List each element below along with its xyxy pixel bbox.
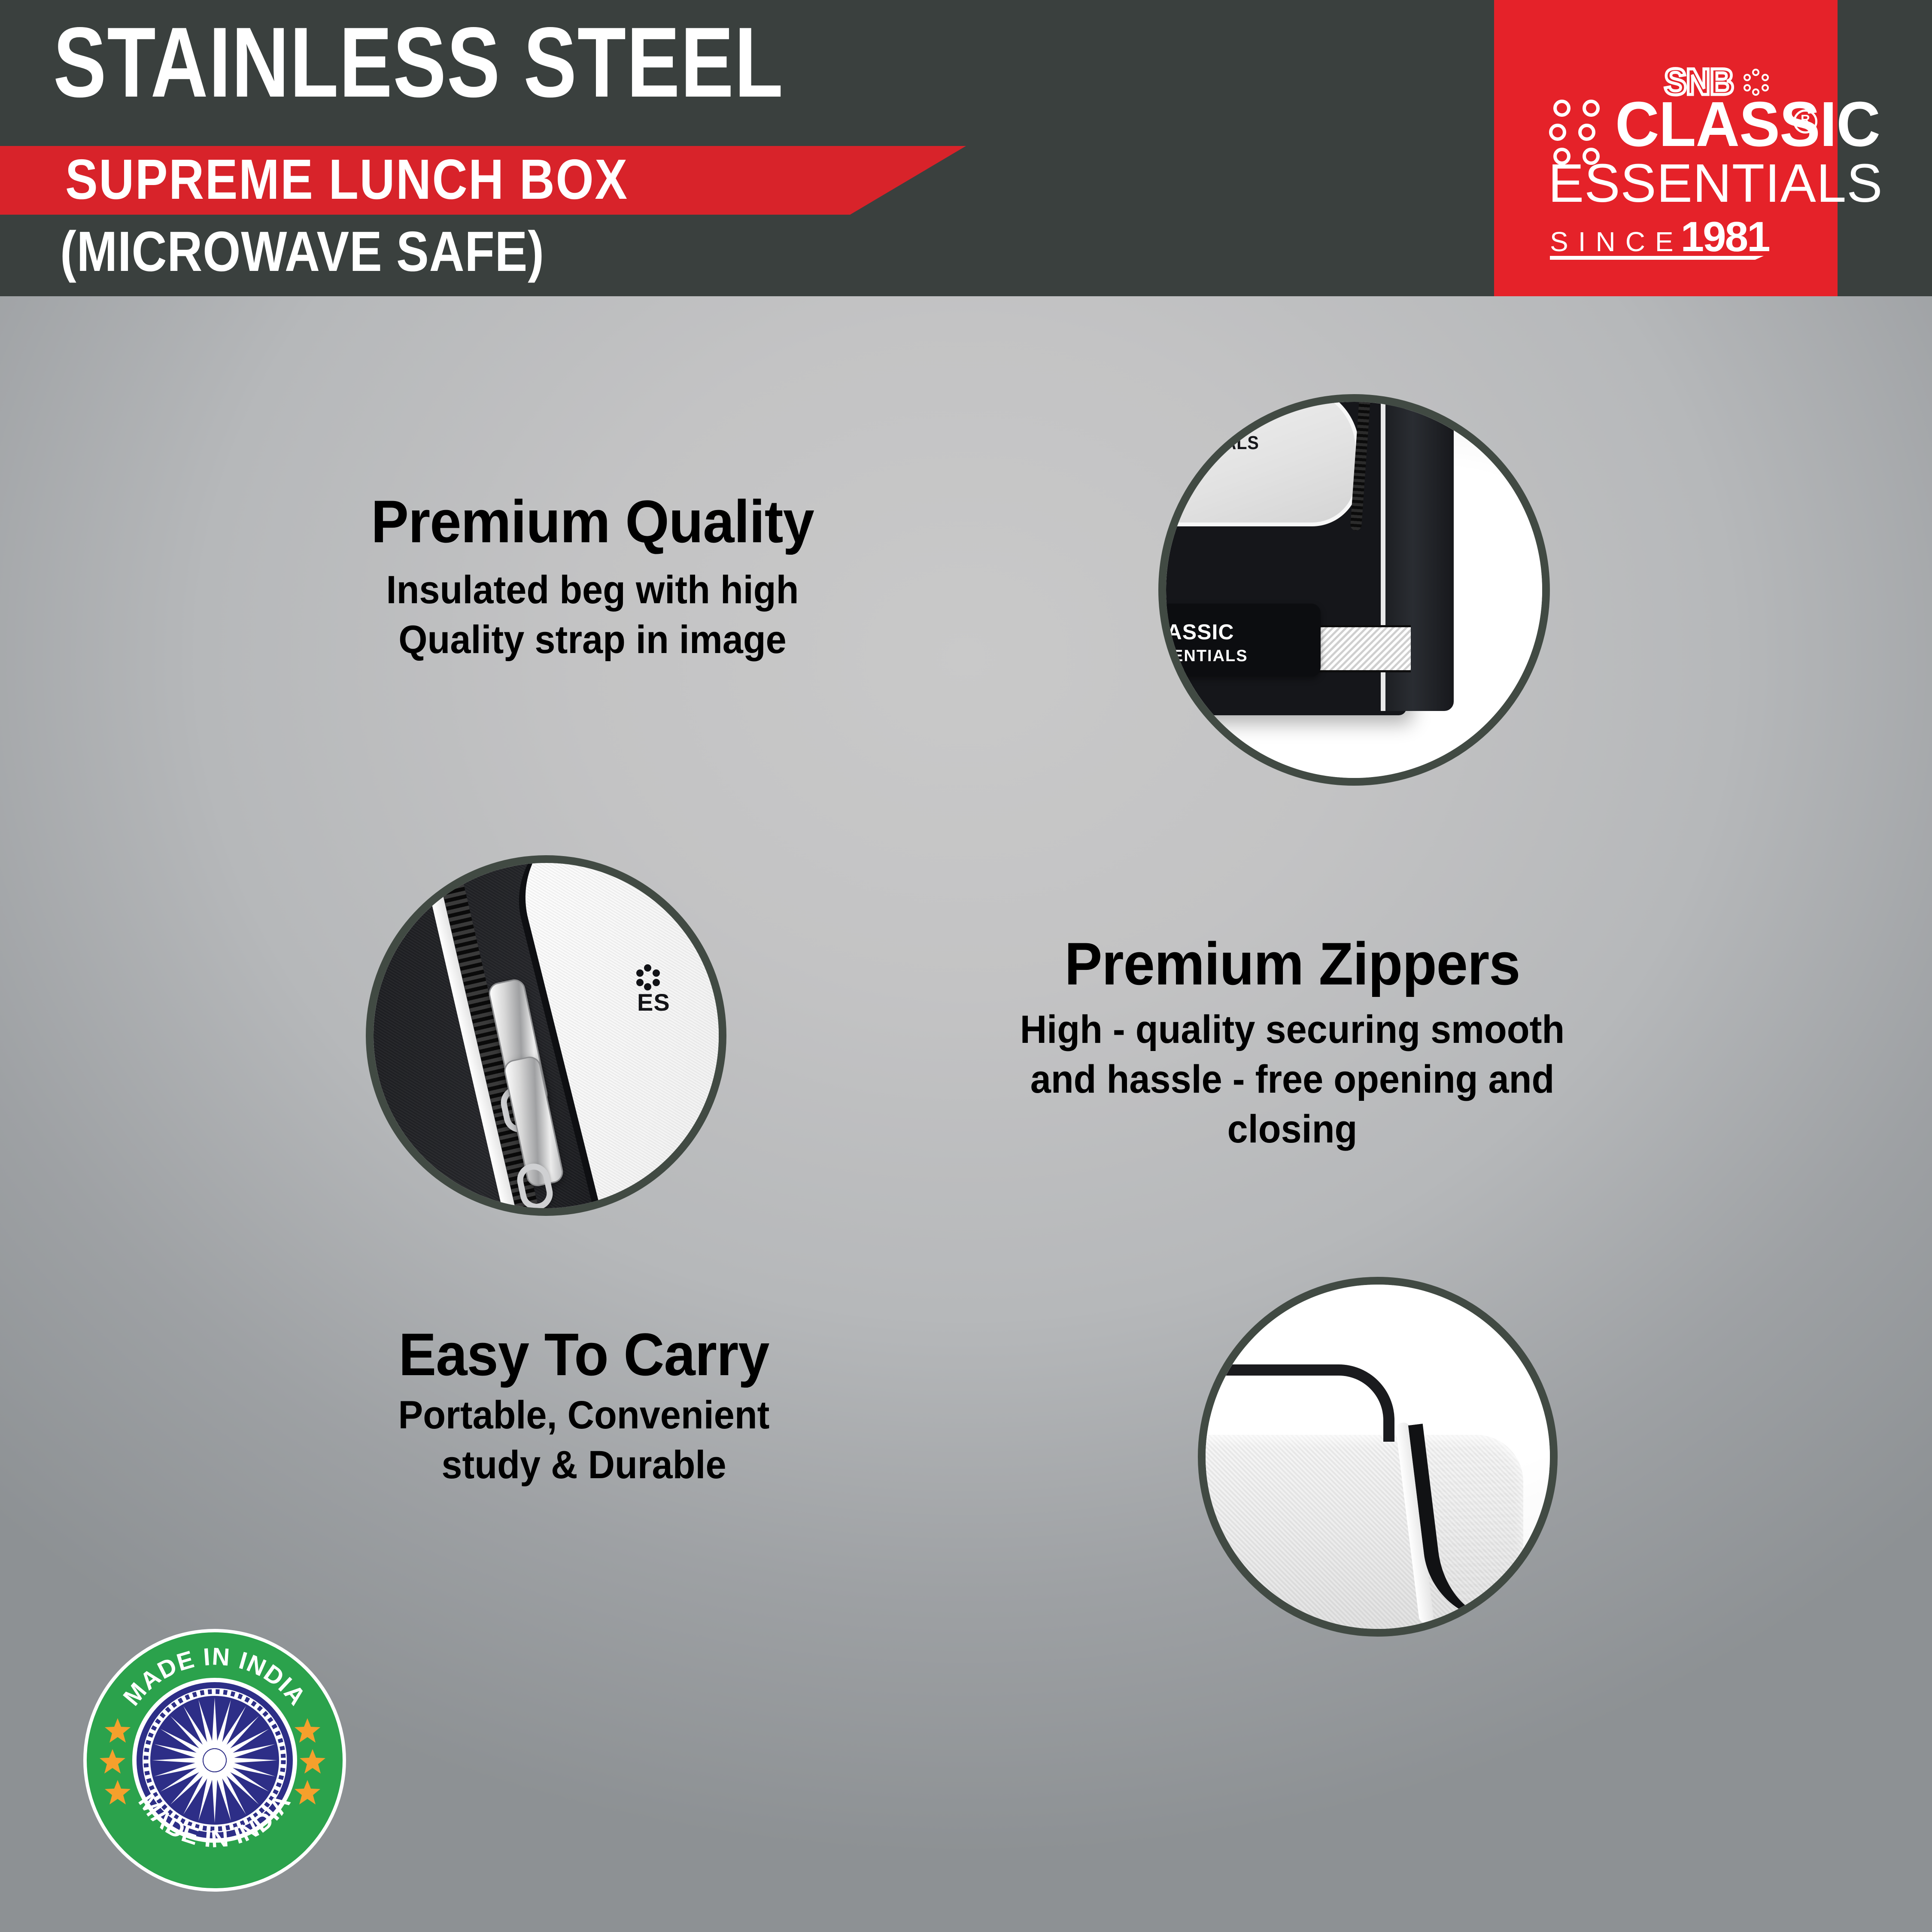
bag-lid-panel: CLASSIC ESSENTIALS [1158, 394, 1359, 526]
feature-title: Premium Quality [290, 489, 895, 554]
feature-description: High - quality securing smooth and hassl… [966, 1005, 1619, 1154]
classic-text: CLASSIC [1615, 93, 1880, 156]
bag-brand-tab: CLASSIC ESSENTIALS [1158, 604, 1321, 677]
made-in-india-seal-icon: MADE IN INDIA MADE IN INDIA [82, 1627, 348, 1893]
tab-brand-line2: ESSENTIALS [1158, 644, 1248, 668]
feature-line-1: Insulated beg with high [290, 565, 895, 615]
carry-handle [1198, 1364, 1394, 1442]
photo-circle-zipper: ES [366, 855, 726, 1216]
registered-trademark-icon: R [1793, 109, 1817, 134]
tab-brand-line1: CLASSIC [1158, 620, 1234, 644]
feature-line-1: High - quality securing smooth [966, 1005, 1619, 1054]
photo-circle-handle [1198, 1277, 1558, 1637]
essentials-text: ESSENTIALS [1548, 156, 1883, 210]
chakra-hub [204, 1749, 226, 1771]
since-label: SINCE [1550, 228, 1683, 255]
feature-premium-quality: Premium Quality Insulated beg with high … [270, 489, 914, 665]
page-title: STAINLESS STEEL [53, 13, 784, 112]
photo-circle-product-corner: CLASSIC ESSENTIALS CLASSIC ESSENTIALS [1158, 394, 1550, 786]
feature-title: Premium Zippers [966, 932, 1619, 996]
lid-brand-line2: ESSENTIALS [1158, 432, 1259, 453]
feature-description: Portable, Convenient study & Durable [298, 1390, 871, 1490]
lid-brand-text: CLASSIC ESSENTIALS [1158, 411, 1259, 454]
made-in-india-badge: MADE IN INDIA MADE IN INDIA [82, 1627, 348, 1893]
feature-line-2: study & Durable [298, 1440, 871, 1490]
feature-line-3: closing [966, 1104, 1619, 1154]
feature-line-2: Quality strap in image [290, 615, 895, 665]
product-note: (MICROWAVE SAFE) [60, 223, 544, 280]
since-row: SINCE 1981 [1550, 216, 1769, 258]
feature-premium-zippers: Premium Zippers High - quality securing … [945, 932, 1640, 1154]
feature-line-2: and hassle - free opening and [966, 1054, 1619, 1104]
feature-title: Easy To Carry [298, 1322, 871, 1387]
fabric-dot-cluster-icon [636, 964, 663, 991]
feature-easy-to-carry: Easy To Carry Portable, Convenient study… [279, 1322, 889, 1490]
feature-line-1: Portable, Convenient [298, 1390, 871, 1440]
brand-logo-panel: SNB CLASSIC R ESSENTIALS SINCE 1981 [1494, 0, 1838, 296]
since-year: 1981 [1681, 216, 1769, 258]
feature-description: Insulated beg with high Quality strap in… [290, 565, 895, 665]
fabric-brand-fragment: ES [637, 991, 670, 1014]
tab-brand-text: CLASSIC ESSENTIALS [1158, 620, 1248, 668]
since-underline [1550, 256, 1764, 260]
infographic-canvas: STAINLESS STEEL SUPREME LUNCH BOX (MICRO… [0, 0, 1932, 1932]
lid-brand-line1: CLASSIC [1158, 411, 1226, 432]
product-subtitle: SUPREME LUNCH BOX [65, 151, 629, 208]
